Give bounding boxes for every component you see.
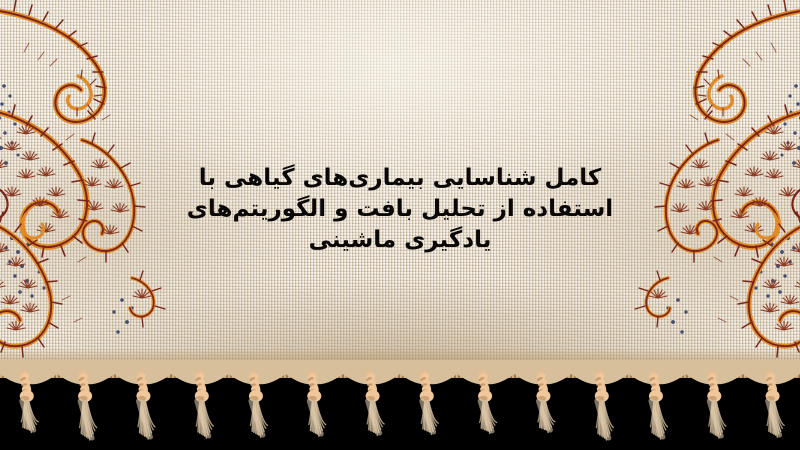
black-backdrop xyxy=(0,378,800,450)
title-line-2: استفاده از تحلیل بافت و الگوریتم‌های xyxy=(0,194,800,225)
fabric-selvedge-weave xyxy=(0,362,800,378)
banner-canvas: کامل شناسایی بیماری‌های گیاهی با استفاده… xyxy=(0,0,800,450)
title-line-3: یادگیری ماشینی xyxy=(0,225,800,256)
banner-title: کامل شناسایی بیماری‌های گیاهی با استفاده… xyxy=(0,163,800,256)
title-line-1: کامل شناسایی بیماری‌های گیاهی با xyxy=(0,163,800,194)
